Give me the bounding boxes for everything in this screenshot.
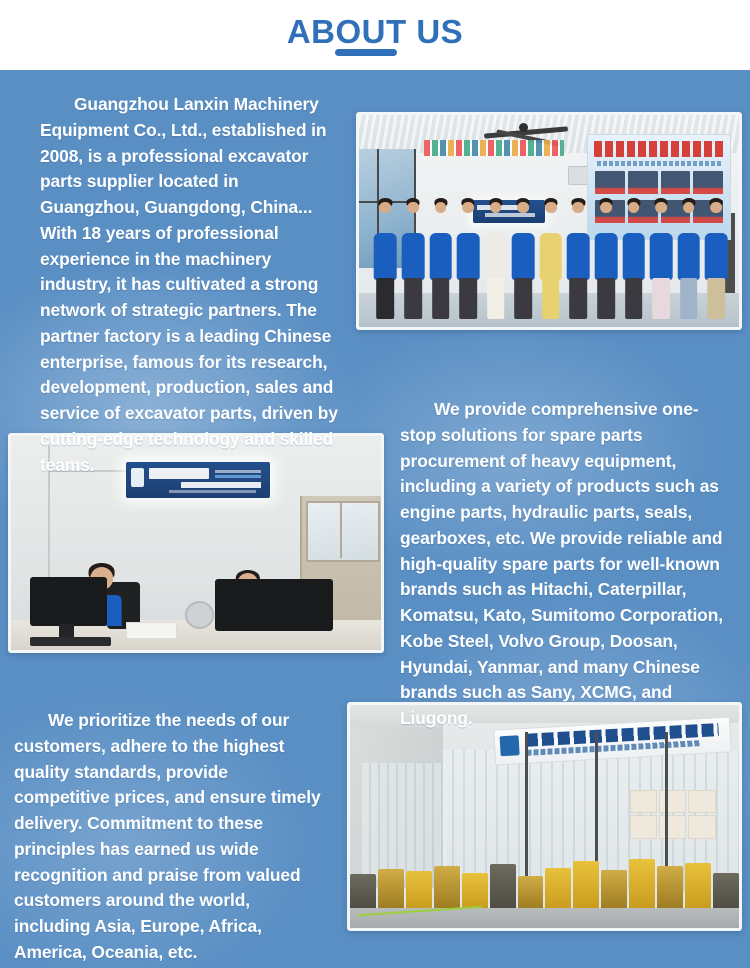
sign-fullname-cn	[181, 482, 262, 488]
staff-member	[429, 202, 452, 319]
customer-commitment-paragraph: We prioritize the needs of our customers…	[14, 708, 326, 966]
company-logo-mark	[499, 735, 519, 756]
computer-monitor	[30, 577, 108, 626]
engine-unit	[434, 866, 460, 910]
staff-member	[567, 202, 590, 319]
desk-fan	[185, 601, 215, 629]
team-photo-scene	[359, 115, 739, 327]
engine-unit	[350, 874, 376, 910]
engine-unit	[657, 866, 683, 910]
product-poster-wall	[630, 790, 716, 839]
company-intro-paragraph: Guangzhou Lanxin Machinery Equipment Co.…	[40, 92, 338, 478]
engine-unit	[685, 863, 711, 910]
staff-member	[512, 202, 535, 319]
engine-unit	[462, 873, 488, 910]
paper-stack	[126, 622, 178, 639]
staff-member	[705, 202, 728, 319]
sign-fullname-en	[169, 490, 256, 493]
page-title: ABOUT US	[287, 15, 463, 48]
keyboard	[30, 637, 111, 646]
monitor-stand	[59, 624, 74, 637]
engine-unit	[713, 873, 739, 910]
staff-group	[374, 191, 727, 318]
staff-member	[374, 202, 397, 319]
staff-member	[677, 202, 700, 319]
banner-company-name-en	[597, 161, 722, 166]
content-panel: Guangzhou Lanxin Machinery Equipment Co.…	[0, 70, 750, 968]
engine-unit	[406, 871, 432, 910]
team-group-photo	[356, 112, 742, 330]
warehouse-engines-photo	[347, 702, 742, 931]
staff-member	[595, 202, 618, 319]
engine-unit	[573, 861, 599, 910]
title-underline-accent	[335, 49, 397, 56]
computer-monitor	[215, 579, 333, 630]
products-brands-paragraph: We provide comprehensive one-stop soluti…	[400, 397, 730, 732]
banner-company-name-cn	[594, 141, 725, 157]
staff-member	[650, 202, 673, 319]
engine-unit	[518, 876, 544, 910]
staff-member	[402, 202, 425, 319]
page-title-wrap: ABOUT US	[287, 15, 463, 56]
staff-member	[457, 202, 480, 319]
engine-row	[350, 848, 739, 910]
engine-unit	[378, 869, 404, 910]
staff-member	[540, 202, 563, 319]
staff-member	[622, 202, 645, 319]
engine-unit	[490, 864, 516, 910]
staff-member	[484, 202, 507, 319]
about-us-page: ABOUT US Guangzhou Lanxin Machinery Equi…	[0, 0, 750, 968]
page-header: ABOUT US	[0, 0, 750, 70]
engine-unit	[629, 859, 655, 910]
engine-unit	[545, 868, 571, 910]
flag-bunting	[424, 140, 565, 156]
engine-unit	[601, 870, 627, 910]
warehouse-photo-scene	[350, 705, 739, 928]
